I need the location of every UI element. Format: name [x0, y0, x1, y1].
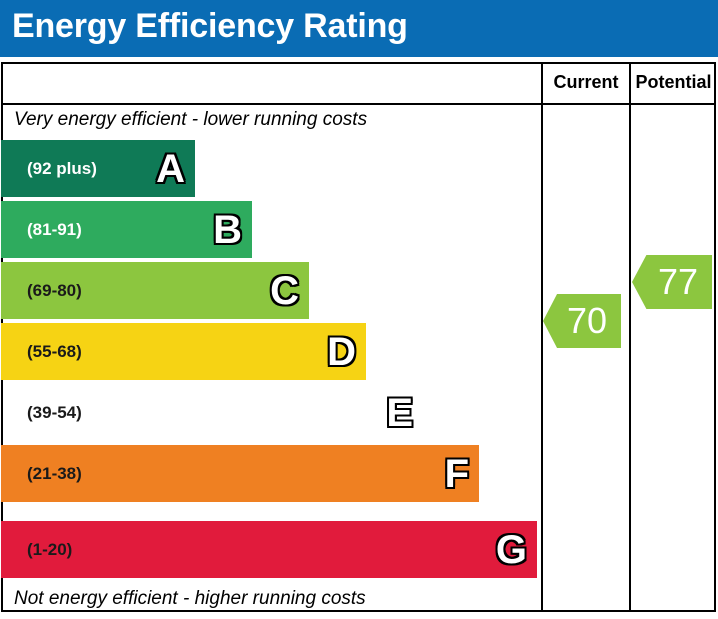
- caption-inefficient: Not energy efficient - higher running co…: [14, 588, 366, 610]
- current-rating-value: 70: [567, 303, 607, 339]
- energy-efficiency-rating-chart: Energy Efficiency Rating Current Potenti…: [0, 0, 718, 619]
- caption-efficient: Very energy efficient - lower running co…: [14, 109, 367, 131]
- column-header-potential: Potential: [631, 72, 716, 93]
- potential-rating-value: 77: [658, 264, 698, 300]
- band-e: (39-54) E: [1, 384, 423, 441]
- potential-rating-pointer: 77: [632, 255, 712, 309]
- band-g-range: (1-20): [27, 540, 72, 560]
- column-header-current: Current: [543, 72, 629, 93]
- band-f: (21-38) F: [1, 445, 479, 502]
- page-title: Energy Efficiency Rating: [12, 7, 408, 46]
- band-d-range: (55-68): [27, 342, 82, 362]
- band-c: (69-80) C: [1, 262, 309, 319]
- header-row-divider: [1, 103, 716, 105]
- band-c-letter: C: [270, 271, 299, 311]
- column-divider-current: [541, 62, 543, 612]
- band-c-range: (69-80): [27, 281, 82, 301]
- current-rating-pointer: 70: [543, 294, 621, 348]
- band-g: (1-20) G: [1, 521, 537, 578]
- band-f-letter: F: [445, 454, 469, 494]
- band-d: (55-68) D: [1, 323, 366, 380]
- band-d-letter: D: [327, 332, 356, 372]
- band-f-range: (21-38): [27, 464, 82, 484]
- band-e-range: (39-54): [27, 403, 82, 423]
- band-a: (92 plus) A: [1, 140, 195, 197]
- band-a-range: (92 plus): [27, 159, 97, 179]
- band-b-letter: B: [213, 210, 242, 250]
- band-g-letter: G: [496, 530, 527, 570]
- band-e-letter: E: [386, 393, 413, 433]
- band-b: (81-91) B: [1, 201, 252, 258]
- band-a-letter: A: [156, 149, 185, 189]
- band-b-range: (81-91): [27, 220, 82, 240]
- column-divider-potential: [629, 62, 631, 612]
- chart-header-banner: Energy Efficiency Rating: [0, 0, 718, 57]
